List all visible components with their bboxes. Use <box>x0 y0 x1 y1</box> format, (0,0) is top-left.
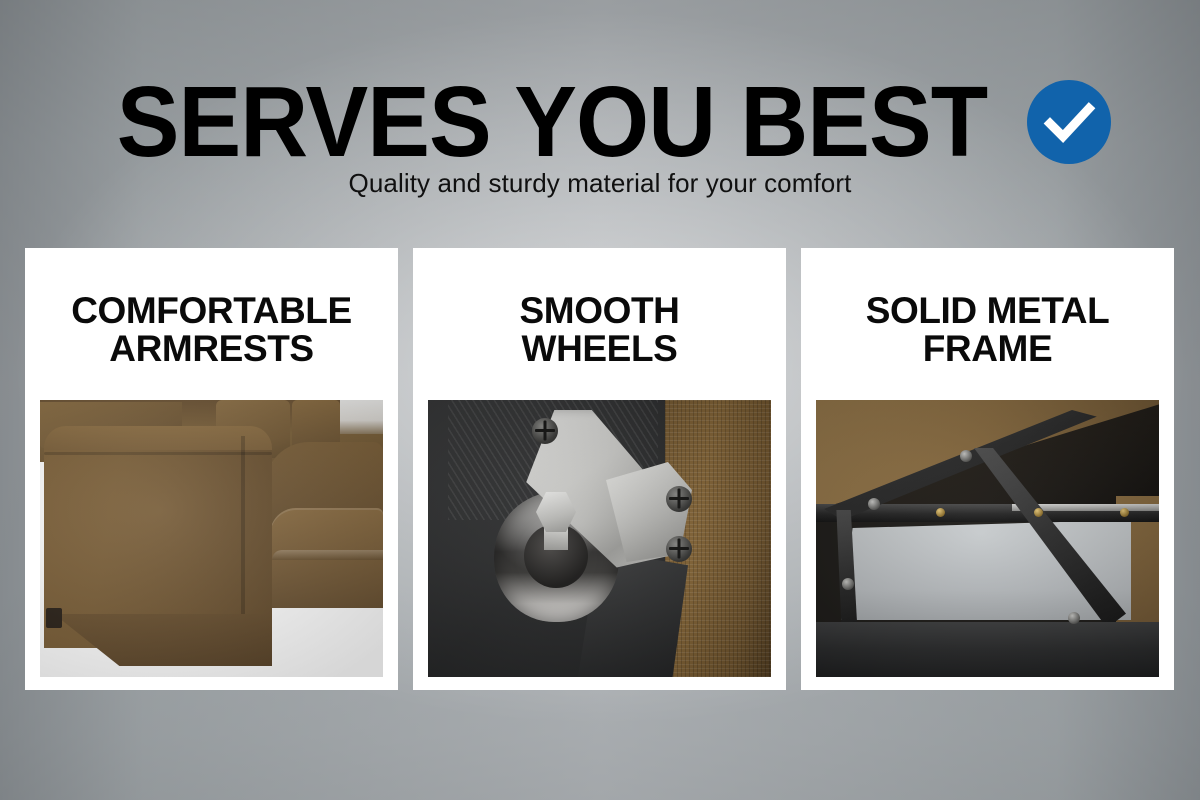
feature-title: SOLID METAL FRAME <box>823 292 1153 368</box>
feature-title-line2: FRAME <box>823 330 1153 368</box>
feature-photo-frame <box>816 400 1159 677</box>
feature-card-frame[interactable]: SOLID METAL FRAME <box>801 248 1174 690</box>
header-section: SERVES YOU BEST Quality and sturdy mater… <box>0 0 1200 215</box>
feature-title-line2: WHEELS <box>435 330 765 368</box>
feature-card-armrests[interactable]: COMFORTABLE ARMRESTS <box>25 248 398 690</box>
page-title: SERVES YOU BEST <box>117 74 988 170</box>
feature-title: SMOOTH WHEELS <box>435 292 765 368</box>
feature-photo-armrests <box>40 400 383 677</box>
infographic-canvas: SERVES YOU BEST Quality and sturdy mater… <box>0 0 1200 800</box>
feature-photo-wheels <box>428 400 771 677</box>
feature-title-line1: COMFORTABLE <box>71 290 352 331</box>
caster-wheel-illustration <box>428 400 771 677</box>
feature-title: COMFORTABLE ARMRESTS <box>47 292 377 368</box>
feature-card-row: COMFORTABLE ARMRESTS <box>25 248 1175 690</box>
feature-title-line1: SOLID METAL <box>866 290 1110 331</box>
sofa-armrest-illustration <box>40 400 383 677</box>
feature-card-wheels[interactable]: SMOOTH WHEELS <box>413 248 786 690</box>
feature-title-line1: SMOOTH <box>520 290 680 331</box>
feature-title-line2: ARMRESTS <box>47 330 377 368</box>
metal-frame-illustration <box>816 400 1159 677</box>
page-subtitle: Quality and sturdy material for your com… <box>0 168 1200 198</box>
check-circle-icon <box>1027 80 1111 164</box>
headline-row: SERVES YOU BEST <box>0 74 1200 170</box>
